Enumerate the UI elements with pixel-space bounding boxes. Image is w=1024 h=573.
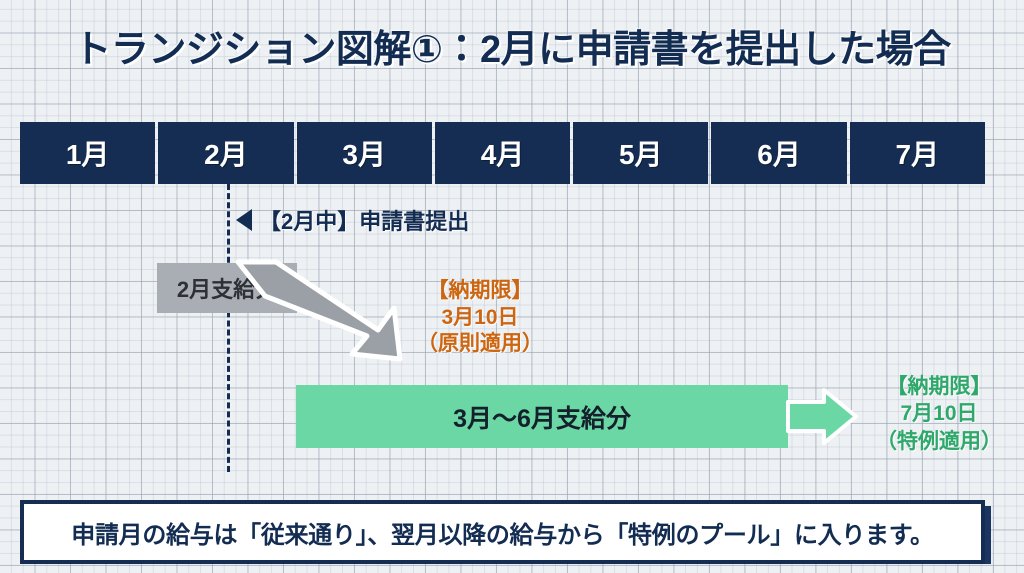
principle-deadline-line2: 3月10日 — [400, 305, 560, 332]
special-pool-bar: 3月～6月支給分 — [296, 385, 788, 448]
arrow-right-icon — [786, 385, 859, 448]
special-deadline-line3: （特例適用） — [858, 428, 1020, 455]
february-marker-line — [227, 184, 230, 472]
month-cell-1: 1月 — [20, 122, 155, 184]
month-cell-5: 5月 — [573, 122, 708, 184]
month-cell-6: 6月 — [711, 122, 846, 184]
diagram-canvas: トランジション図解①：2月に申請書を提出した場合 1月 2月 3月 4月 5月 … — [0, 0, 1024, 573]
month-timeline: 1月 2月 3月 4月 5月 6月 7月 — [20, 122, 985, 184]
submission-note: 【2月中】申請書提出 — [236, 204, 469, 236]
submission-note-label: 【2月中】申請書提出 — [259, 204, 469, 236]
month-cell-3: 3月 — [297, 122, 432, 184]
principle-deadline-text: 【納期限】 3月10日 （原則適用） — [400, 278, 560, 358]
special-deadline-line1: 【納期限】 — [858, 373, 1020, 400]
month-cell-7: 7月 — [850, 122, 985, 184]
diagonal-arrow-down-right-icon — [232, 258, 407, 363]
left-triangle-icon — [236, 209, 252, 231]
special-deadline-line2: 7月10日 — [858, 400, 1020, 427]
principle-deadline-line3: （原則適用） — [400, 331, 560, 358]
month-cell-4: 4月 — [435, 122, 570, 184]
page-title: トランジション図解①：2月に申請書を提出した場合 — [0, 18, 1024, 73]
month-cell-2: 2月 — [158, 122, 293, 184]
principle-deadline-line1: 【納期限】 — [400, 278, 560, 305]
summary-banner-text: 申請月の給与は「従来通り」、翌月以降の給与から「特例のプール」に入ります。 — [71, 515, 934, 550]
summary-banner: 申請月の給与は「従来通り」、翌月以降の給与から「特例のプール」に入ります。 — [20, 500, 985, 564]
special-deadline-text: 【納期限】 7月10日 （特例適用） — [858, 373, 1020, 455]
